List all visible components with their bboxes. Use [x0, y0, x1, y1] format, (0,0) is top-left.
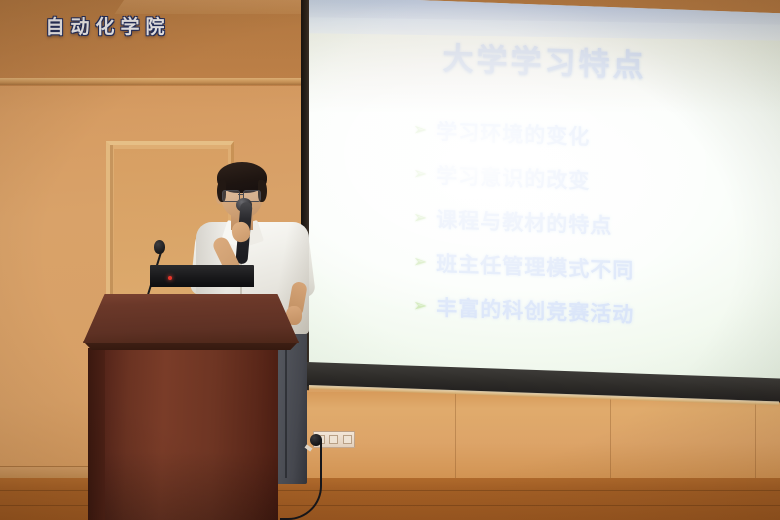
podium-top-face: [83, 294, 299, 343]
glasses-bridge: [238, 194, 243, 195]
wainscot-seam: [455, 392, 456, 484]
arrow-bullet-icon: ➢: [413, 253, 427, 271]
arrow-bullet-icon: ➢: [413, 209, 427, 227]
laptop-power-led-icon: [168, 276, 172, 280]
podium-top: [83, 294, 299, 343]
slide-bullet-list: ➢ 学习环境的变化 ➢ 学习意识的改变 ➢ 课程与教材的特点 ➢ 班主任管理模式…: [413, 108, 780, 342]
slide-bullet-text: 丰富的科创竞赛活动: [436, 292, 634, 329]
podium-body-shading: [105, 348, 278, 520]
arrow-bullet-icon: ➢: [413, 165, 427, 183]
lecture-hall-photo: 大学学习特点 ➢ 学习环境的变化 ➢ 学习意识的改变 ➢ 课程与教材的特点: [0, 0, 780, 520]
arrow-bullet-icon: ➢: [413, 297, 427, 315]
arrow-bullet-icon: ➢: [413, 121, 427, 139]
podium-label: 自动化学院: [0, 12, 216, 39]
wainscot-panel: [300, 392, 780, 484]
wainscot-seam: [755, 392, 756, 484]
projection-screen: 大学学习特点 ➢ 学习环境的变化 ➢ 学习意识的改变 ➢ 课程与教材的特点: [301, 0, 780, 394]
slide-title: 大学学习特点: [308, 28, 780, 90]
slide-content: 大学学习特点 ➢ 学习环境的变化 ➢ 学习意识的改变 ➢ 课程与教材的特点: [308, 0, 780, 385]
outlet-socket-icon: [343, 435, 352, 444]
wall-trim-molding: [0, 78, 345, 85]
screen-surface: 大学学习特点 ➢ 学习环境的变化 ➢ 学习意识的改变 ➢ 课程与教材的特点: [308, 0, 780, 385]
slide-bullet-text: 课程与教材的特点: [436, 204, 612, 240]
wainscot-seam: [610, 392, 611, 484]
gooseneck-microphone-head[interactable]: [154, 240, 165, 254]
podium-left-side: [88, 348, 106, 520]
laptop[interactable]: [150, 265, 254, 287]
slide-bullet-text: 学习意识的改变: [436, 160, 590, 196]
slide-bullet-text: 班主任管理模式不同: [436, 248, 634, 285]
outlet-socket-icon: [329, 435, 338, 444]
slide-bullet-text: 学习环境的变化: [436, 116, 590, 152]
